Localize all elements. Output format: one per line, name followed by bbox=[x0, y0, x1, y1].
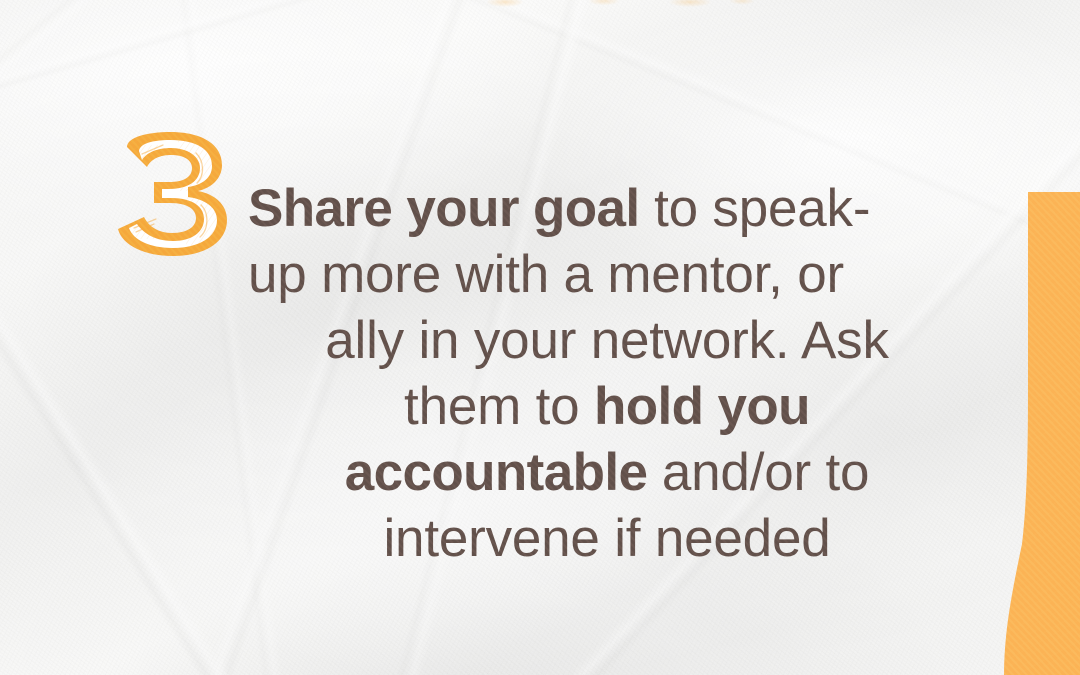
copy-line-5-rest: and/or to bbox=[647, 443, 869, 502]
copy-line-4-bold: hold you bbox=[594, 377, 810, 436]
copy-line-6: intervene if needed bbox=[248, 506, 966, 572]
copy-line-5: accountable and/or to bbox=[248, 440, 966, 506]
copy-line-4-rest: them to bbox=[404, 377, 594, 436]
copy-line-1: Share your goal to speak- bbox=[248, 176, 966, 242]
step-number-3-icon bbox=[100, 131, 234, 257]
copy-line-5-bold: accountable bbox=[345, 443, 648, 502]
top-edge-orange-remnants bbox=[0, 0, 1080, 12]
copy-line-2: up more with a mentor, or bbox=[248, 242, 966, 308]
copy-line-3: ally in your network. Ask bbox=[248, 308, 966, 374]
copy-line-1-rest: to speak- bbox=[640, 179, 871, 238]
copy-line-1-bold: Share your goal bbox=[248, 179, 640, 238]
body-copy: Share your goal to speak- up more with a… bbox=[248, 176, 966, 572]
slide-canvas: Share your goal to speak- up more with a… bbox=[0, 0, 1080, 675]
orange-accent-bar bbox=[986, 192, 1080, 675]
copy-line-4: them to hold you bbox=[248, 374, 966, 440]
